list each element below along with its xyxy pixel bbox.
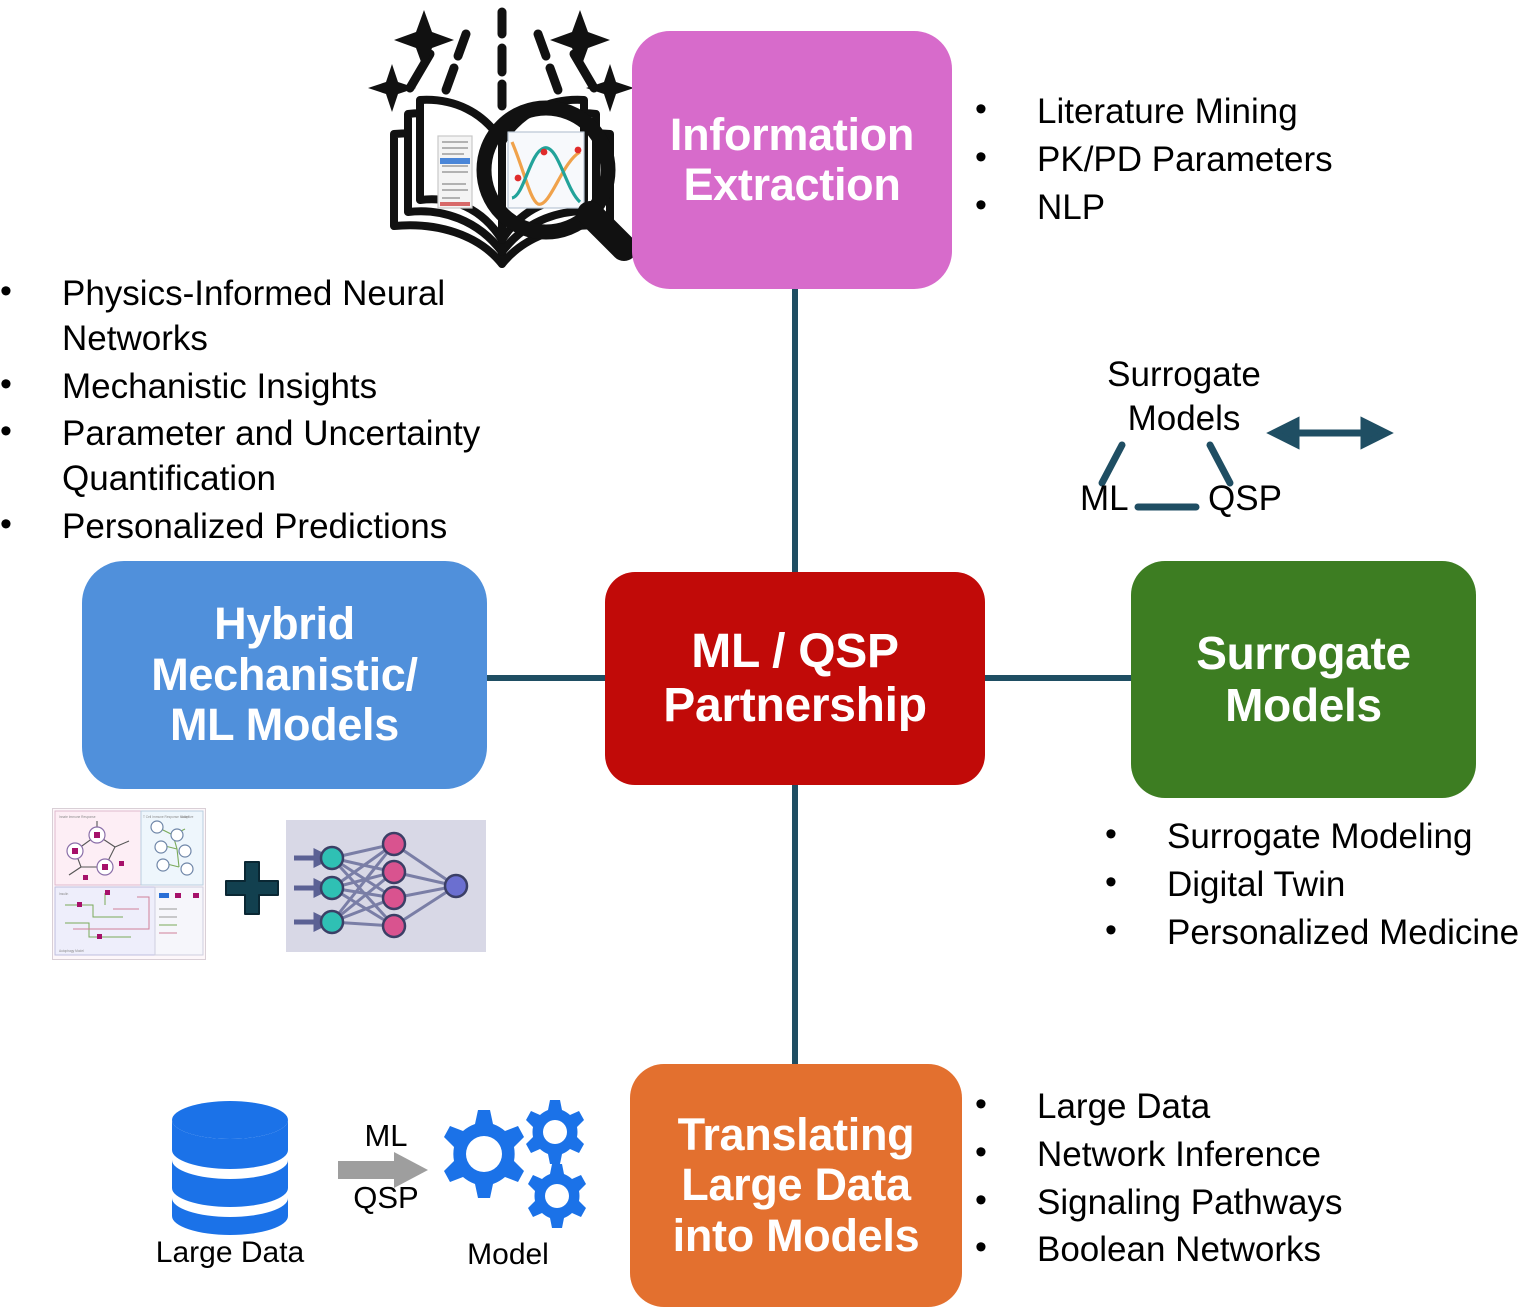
bullet-item: Personalized Medicine [1105, 911, 1524, 956]
bullet-item: NLP [975, 186, 1445, 231]
node-hybrid-label: Hybrid Mechanistic/ ML Models [151, 599, 418, 750]
bullets-hybrid-models: Physics-Informed Neural Networks Mechani… [0, 272, 520, 553]
bullet-item: Digital Twin [1105, 863, 1524, 908]
node-translating-label: Translating Large Data into Models [673, 1110, 920, 1261]
plus-icon [224, 860, 280, 927]
book-magnifier-icon [358, 2, 638, 270]
model-caption: Model [418, 1238, 598, 1272]
hybrid-models-illustration: Innate Immune Response T Cell Immune Res… [52, 808, 502, 968]
node-information-extraction[interactable]: Information Extraction [632, 31, 952, 289]
bullet-item: Signaling Pathways [975, 1181, 1405, 1226]
bullet-item: Physics-Informed Neural Networks [0, 272, 520, 362]
bullets-translating-large-data: Large Data Network Inference Signaling P… [975, 1085, 1405, 1276]
bullets-information-extraction: Literature Mining PK/PD Parameters NLP [975, 90, 1445, 233]
node-hybrid-mechanistic-ml-models[interactable]: Hybrid Mechanistic/ ML Models [82, 561, 487, 789]
svg-text:Insulin: Insulin [59, 892, 68, 896]
surrogate-illustration-ml-label: ML [1080, 479, 1129, 519]
connector-top [792, 289, 798, 575]
bullet-item: Large Data [975, 1085, 1405, 1130]
bullet-item: Parameter and Uncertainty Quantification [0, 412, 520, 502]
surrogate-illustration-title: Surrogate Models [1094, 353, 1274, 441]
bullet-item: Network Inference [975, 1133, 1405, 1178]
bullets-surrogate-models: Surrogate Modeling Digital Twin Personal… [1105, 815, 1524, 958]
data-to-model-illustration: Large Data ML QSP Model [140, 1098, 610, 1288]
gears-icon [416, 1098, 606, 1238]
bullet-item: Boolean Networks [975, 1228, 1405, 1273]
bullet-item: Personalized Predictions [0, 505, 520, 550]
bullet-item: Surrogate Modeling [1105, 815, 1524, 860]
node-ml-qsp-partnership[interactable]: ML / QSP Partnership [605, 572, 985, 785]
mechanistic-model-icon: Innate Immune Response T Cell Immune Res… [52, 808, 206, 960]
diagram-canvas: Information Extraction Literature Mining… [0, 0, 1524, 1316]
node-translating-large-data[interactable]: Translating Large Data into Models [630, 1064, 962, 1307]
bullet-item: PK/PD Parameters [975, 138, 1445, 183]
node-surrogate-label: Surrogate Models [1196, 628, 1411, 731]
surrogate-illustration-qsp-label: QSP [1208, 479, 1282, 519]
connector-bottom [792, 782, 798, 1067]
bullet-item: Mechanistic Insights [0, 365, 520, 410]
node-information-extraction-label: Information Extraction [670, 110, 914, 211]
svg-text:Autophagy Model: Autophagy Model [59, 949, 84, 953]
svg-text:Innate Immune Response: Innate Immune Response [59, 815, 96, 819]
connector-left [487, 675, 607, 681]
connector-right [983, 675, 1133, 681]
surrogate-models-illustration: Surrogate Models ML QSP [1060, 345, 1520, 555]
node-surrogate-models[interactable]: Surrogate Models [1131, 561, 1476, 798]
node-central-label: ML / QSP Partnership [663, 625, 926, 733]
neural-network-icon [286, 820, 486, 952]
database-caption: Large Data [140, 1236, 320, 1270]
svg-text:Adaptive: Adaptive [181, 815, 194, 819]
bullet-item: Literature Mining [975, 90, 1445, 135]
database-icon [140, 1098, 320, 1238]
